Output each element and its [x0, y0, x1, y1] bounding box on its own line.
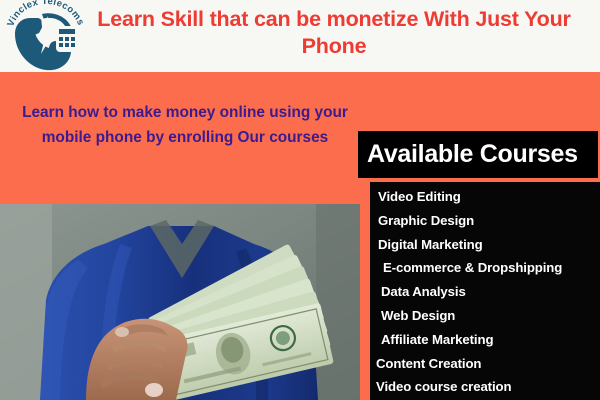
list-item: Video course creation	[370, 375, 600, 399]
money-photo	[0, 204, 360, 400]
list-item: Affiliate Marketing	[370, 328, 600, 352]
list-item: Content Creation	[370, 352, 600, 376]
available-courses-title: Available Courses	[358, 140, 578, 169]
available-courses-header: Available Courses	[358, 131, 598, 178]
list-item: Web Design	[370, 304, 600, 328]
list-item: Video Editing	[370, 185, 600, 209]
poster-subtitle: Learn how to make money online using you…	[6, 100, 364, 150]
list-item: Digital Marketing	[370, 233, 600, 257]
list-item: Data Analysis	[370, 280, 600, 304]
poster-headline: Learn Skill that can be monetize With Ju…	[72, 6, 596, 60]
promo-poster: Vinclex Telecoms	[0, 0, 600, 400]
list-item: Graphic Design	[370, 209, 600, 233]
list-item: E-commerce & Dropshipping	[370, 256, 600, 280]
courses-list: Video Editing Graphic Design Digital Mar…	[370, 182, 600, 400]
